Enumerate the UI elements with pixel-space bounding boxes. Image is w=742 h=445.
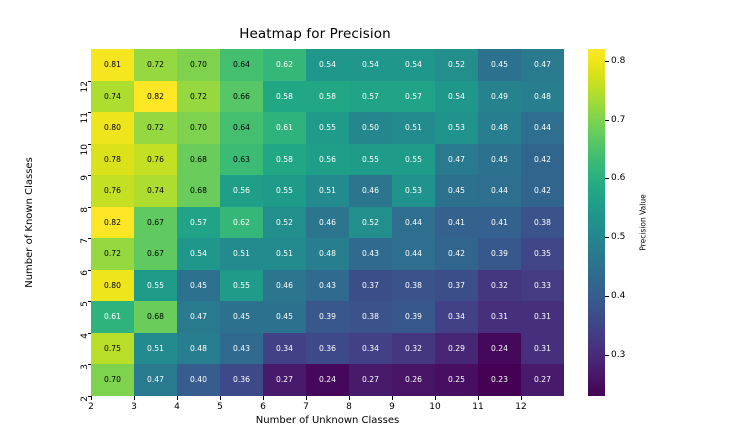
heatmap-cell: 0.48 xyxy=(306,238,349,270)
heatmap-cell: 0.55 xyxy=(306,112,349,144)
heatmap-cell: 0.62 xyxy=(220,207,263,239)
heatmap-cell-value: 0.51 xyxy=(405,124,422,132)
heatmap-cell-value: 0.55 xyxy=(319,124,336,132)
heatmap-cell-value: 0.58 xyxy=(276,93,293,101)
heatmap-cell: 0.56 xyxy=(306,144,349,176)
heatmap-cell: 0.48 xyxy=(521,81,564,113)
heatmap-cell: 0.31 xyxy=(478,301,521,333)
heatmap-cell: 0.70 xyxy=(91,364,134,396)
heatmap-cell-value: 0.57 xyxy=(362,93,379,101)
heatmap-cell: 0.47 xyxy=(521,49,564,81)
heatmap-cell-value: 0.44 xyxy=(491,187,508,195)
heatmap-cell: 0.48 xyxy=(478,112,521,144)
x-axis-title: Number of Unknown Classes xyxy=(91,415,564,426)
heatmap-cell: 0.32 xyxy=(392,333,435,365)
heatmap-cell-value: 0.76 xyxy=(104,187,121,195)
heatmap-cell-value: 0.67 xyxy=(147,219,164,227)
y-tick-label: 9 xyxy=(80,175,90,181)
heatmap-cell-value: 0.82 xyxy=(147,93,164,101)
x-tick-mark xyxy=(478,396,479,400)
x-tick-mark xyxy=(349,396,350,400)
heatmap-cell-value: 0.48 xyxy=(190,345,207,353)
heatmap-cell: 0.81 xyxy=(91,49,134,81)
heatmap-cell-value: 0.64 xyxy=(233,61,250,69)
heatmap-cell: 0.72 xyxy=(177,81,220,113)
heatmap-cell-value: 0.70 xyxy=(104,376,121,384)
heatmap-cell-value: 0.67 xyxy=(147,250,164,258)
heatmap-cell-value: 0.31 xyxy=(534,313,551,321)
heatmap-cell-value: 0.62 xyxy=(233,219,250,227)
heatmap-cell-value: 0.27 xyxy=(362,376,379,384)
heatmap-cell: 0.55 xyxy=(220,270,263,302)
colorbar: 0.80.70.60.50.40.3 xyxy=(588,49,605,396)
heatmap-cell: 0.46 xyxy=(263,270,306,302)
y-tick-label: 11 xyxy=(80,112,90,123)
heatmap-cell: 0.47 xyxy=(134,364,177,396)
colorbar-tick-label: 0.4 xyxy=(611,291,625,301)
heatmap-cell-value: 0.68 xyxy=(190,187,207,195)
colorbar-tick-label: 0.7 xyxy=(611,115,625,125)
heatmap-cell: 0.38 xyxy=(521,207,564,239)
heatmap-cell-value: 0.55 xyxy=(276,187,293,195)
y-tick-label: 7 xyxy=(80,238,90,244)
heatmap-cell-value: 0.44 xyxy=(405,219,422,227)
heatmap-cell-value: 0.23 xyxy=(491,376,508,384)
heatmap-cell: 0.29 xyxy=(435,333,478,365)
heatmap-cell: 0.31 xyxy=(521,333,564,365)
colorbar-tick-label: 0.5 xyxy=(611,232,625,242)
heatmap-cell-value: 0.57 xyxy=(405,93,422,101)
heatmap-cell-value: 0.72 xyxy=(147,124,164,132)
heatmap-cell: 0.45 xyxy=(478,144,521,176)
x-tick-label: 11 xyxy=(472,402,483,412)
heatmap-cell: 0.34 xyxy=(435,301,478,333)
x-tick-label: 8 xyxy=(346,402,352,412)
x-tick-label: 9 xyxy=(389,402,395,412)
heatmap-cell: 0.54 xyxy=(435,81,478,113)
heatmap-cell: 0.45 xyxy=(177,270,220,302)
heatmap-cell: 0.72 xyxy=(134,49,177,81)
x-tick-mark xyxy=(263,396,264,400)
heatmap-cell: 0.51 xyxy=(263,238,306,270)
heatmap-cell-value: 0.54 xyxy=(319,61,336,69)
heatmap-cell-value: 0.58 xyxy=(319,93,336,101)
heatmap-cell-value: 0.63 xyxy=(233,156,250,164)
heatmap-cell: 0.51 xyxy=(220,238,263,270)
heatmap-cell-value: 0.41 xyxy=(491,219,508,227)
heatmap-cell-value: 0.33 xyxy=(534,282,551,290)
y-tick-label: 10 xyxy=(80,144,90,155)
heatmap-cell-value: 0.45 xyxy=(491,61,508,69)
heatmap-cell-value: 0.51 xyxy=(233,250,250,258)
heatmap-cell-value: 0.57 xyxy=(190,219,207,227)
heatmap-cell-value: 0.39 xyxy=(319,313,336,321)
heatmap-cell: 0.55 xyxy=(349,144,392,176)
heatmap-cell-value: 0.31 xyxy=(534,345,551,353)
heatmap-cell-value: 0.24 xyxy=(319,376,336,384)
heatmap-cell: 0.36 xyxy=(220,364,263,396)
heatmap-cell: 0.42 xyxy=(435,238,478,270)
heatmap-cell-value: 0.55 xyxy=(147,282,164,290)
heatmap-cell: 0.76 xyxy=(91,175,134,207)
heatmap-cell: 0.75 xyxy=(91,333,134,365)
heatmap-cell: 0.51 xyxy=(392,112,435,144)
heatmap-cell-value: 0.74 xyxy=(147,187,164,195)
heatmap-cell-value: 0.54 xyxy=(362,61,379,69)
heatmap-cell-value: 0.53 xyxy=(448,124,465,132)
heatmap-cell-value: 0.75 xyxy=(104,345,121,353)
heatmap-cell: 0.48 xyxy=(177,333,220,365)
heatmap-cell: 0.43 xyxy=(306,270,349,302)
y-tick-label: 6 xyxy=(80,270,90,276)
chart-title: Heatmap for Precision xyxy=(0,26,630,42)
heatmap-cell-value: 0.46 xyxy=(362,187,379,195)
heatmap-cell: 0.45 xyxy=(220,301,263,333)
y-tick-label: 3 xyxy=(80,364,90,370)
heatmap-cell: 0.62 xyxy=(263,49,306,81)
figure-canvas: Heatmap for Precision Number of Known Cl… xyxy=(0,0,742,445)
heatmap-cell: 0.23 xyxy=(478,364,521,396)
heatmap-cell: 0.33 xyxy=(521,270,564,302)
heatmap-cell-value: 0.32 xyxy=(405,345,422,353)
heatmap-cell-value: 0.44 xyxy=(534,124,551,132)
heatmap-cell-value: 0.37 xyxy=(448,282,465,290)
heatmap-cell-value: 0.76 xyxy=(147,156,164,164)
heatmap-cell: 0.52 xyxy=(263,207,306,239)
heatmap-cell-value: 0.37 xyxy=(362,282,379,290)
heatmap-cell: 0.80 xyxy=(91,112,134,144)
heatmap-cell-value: 0.40 xyxy=(190,376,207,384)
heatmap-cell-value: 0.52 xyxy=(362,219,379,227)
heatmap-cell: 0.35 xyxy=(521,238,564,270)
x-tick-label: 2 xyxy=(88,402,94,412)
heatmap-cell: 0.64 xyxy=(220,49,263,81)
heatmap-cell: 0.27 xyxy=(521,364,564,396)
heatmap-cell-value: 0.27 xyxy=(534,376,551,384)
heatmap-cell-value: 0.70 xyxy=(190,61,207,69)
heatmap-cell: 0.67 xyxy=(134,207,177,239)
colorbar-tick-label: 0.3 xyxy=(611,350,625,360)
x-tick-label: 10 xyxy=(429,402,440,412)
heatmap-cell-value: 0.80 xyxy=(104,124,121,132)
heatmap-cell: 0.80 xyxy=(91,270,134,302)
heatmap-cell: 0.66 xyxy=(220,81,263,113)
heatmap-cell-value: 0.54 xyxy=(448,93,465,101)
heatmap-plot-area: 0.810.720.700.640.620.540.540.540.520.45… xyxy=(91,49,564,396)
heatmap-cell: 0.46 xyxy=(349,175,392,207)
heatmap-cell: 0.40 xyxy=(177,364,220,396)
heatmap-cell-value: 0.36 xyxy=(319,345,336,353)
heatmap-cell: 0.47 xyxy=(177,301,220,333)
colorbar-title: Precision Value xyxy=(636,49,650,396)
y-axis-title: Number of Known Classes xyxy=(22,49,36,396)
x-tick-label: 5 xyxy=(217,402,223,412)
colorbar-tick-mark xyxy=(605,120,609,121)
heatmap-cell: 0.54 xyxy=(349,49,392,81)
y-tick-label: 4 xyxy=(80,333,90,339)
heatmap-cell-value: 0.53 xyxy=(405,187,422,195)
heatmap-cell: 0.43 xyxy=(349,238,392,270)
heatmap-cell: 0.42 xyxy=(521,175,564,207)
heatmap-cell: 0.61 xyxy=(91,301,134,333)
heatmap-cell-value: 0.81 xyxy=(104,61,121,69)
heatmap-cell-value: 0.38 xyxy=(534,219,551,227)
heatmap-cell-value: 0.48 xyxy=(319,250,336,258)
x-tick-label: 3 xyxy=(131,402,137,412)
heatmap-cell-value: 0.46 xyxy=(276,282,293,290)
heatmap-cell: 0.57 xyxy=(392,81,435,113)
heatmap-cell-value: 0.82 xyxy=(104,219,121,227)
heatmap-cell-value: 0.27 xyxy=(276,376,293,384)
heatmap-cell-value: 0.26 xyxy=(405,376,422,384)
heatmap-cell: 0.41 xyxy=(435,207,478,239)
heatmap-cell: 0.24 xyxy=(306,364,349,396)
heatmap-cell-value: 0.43 xyxy=(233,345,250,353)
heatmap-cell-value: 0.34 xyxy=(276,345,293,353)
x-tick-label: 4 xyxy=(174,402,180,412)
heatmap-cell: 0.26 xyxy=(392,364,435,396)
heatmap-cell-value: 0.51 xyxy=(319,187,336,195)
heatmap-cell-value: 0.47 xyxy=(190,313,207,321)
heatmap-cell-value: 0.61 xyxy=(276,124,293,132)
colorbar-tick-mark xyxy=(605,296,609,297)
heatmap-cell: 0.38 xyxy=(392,270,435,302)
heatmap-cell-value: 0.34 xyxy=(448,313,465,321)
heatmap-cell: 0.36 xyxy=(306,333,349,365)
heatmap-cell: 0.46 xyxy=(306,207,349,239)
heatmap-cell: 0.57 xyxy=(349,81,392,113)
heatmap-cell: 0.70 xyxy=(177,112,220,144)
y-axis-title-text: Number of Known Classes xyxy=(24,157,35,288)
heatmap-cell: 0.44 xyxy=(392,207,435,239)
heatmap-cell: 0.52 xyxy=(349,207,392,239)
colorbar-tick-mark xyxy=(605,178,609,179)
heatmap-cell: 0.53 xyxy=(392,175,435,207)
heatmap-cell-value: 0.46 xyxy=(319,219,336,227)
heatmap-cell: 0.72 xyxy=(134,112,177,144)
heatmap-cell: 0.39 xyxy=(306,301,349,333)
heatmap-cell-value: 0.52 xyxy=(276,219,293,227)
heatmap-cell: 0.74 xyxy=(91,81,134,113)
y-tick-label: 5 xyxy=(80,301,90,307)
heatmap-cell-value: 0.43 xyxy=(362,250,379,258)
heatmap-cell-value: 0.55 xyxy=(362,156,379,164)
heatmap-cell: 0.64 xyxy=(220,112,263,144)
colorbar-gradient xyxy=(588,49,605,396)
y-tick-label: 8 xyxy=(80,207,90,213)
heatmap-cell: 0.82 xyxy=(91,207,134,239)
colorbar-tick-mark xyxy=(605,355,609,356)
heatmap-cell: 0.50 xyxy=(349,112,392,144)
heatmap-cell: 0.45 xyxy=(478,49,521,81)
heatmap-cell-value: 0.25 xyxy=(448,376,465,384)
x-tick-mark xyxy=(134,396,135,400)
heatmap-cell: 0.39 xyxy=(478,238,521,270)
heatmap-cell: 0.52 xyxy=(435,49,478,81)
x-tick-label: 7 xyxy=(303,402,309,412)
heatmap-cell: 0.37 xyxy=(349,270,392,302)
heatmap-cell: 0.27 xyxy=(263,364,306,396)
heatmap-cell: 0.56 xyxy=(220,175,263,207)
heatmap-cell-value: 0.45 xyxy=(448,187,465,195)
x-tick-mark xyxy=(177,396,178,400)
heatmap-cell-value: 0.47 xyxy=(534,61,551,69)
heatmap-cell: 0.42 xyxy=(521,144,564,176)
y-tick-label: 12 xyxy=(80,81,90,92)
heatmap-cell-value: 0.42 xyxy=(448,250,465,258)
heatmap-cell: 0.70 xyxy=(177,49,220,81)
heatmap-cell: 0.54 xyxy=(306,49,349,81)
heatmap-cell: 0.25 xyxy=(435,364,478,396)
heatmap-cell-value: 0.52 xyxy=(448,61,465,69)
heatmap-cell-value: 0.47 xyxy=(147,376,164,384)
heatmap-cell-value: 0.72 xyxy=(147,61,164,69)
heatmap-cell: 0.51 xyxy=(306,175,349,207)
heatmap-cell: 0.53 xyxy=(435,112,478,144)
heatmap-cell-value: 0.72 xyxy=(104,250,121,258)
x-tick-mark xyxy=(91,396,92,400)
heatmap-cell-value: 0.39 xyxy=(491,250,508,258)
heatmap-cell: 0.55 xyxy=(134,270,177,302)
heatmap-cell: 0.47 xyxy=(435,144,478,176)
heatmap-cell-value: 0.49 xyxy=(491,93,508,101)
heatmap-cell-value: 0.78 xyxy=(104,156,121,164)
heatmap-cell: 0.58 xyxy=(263,144,306,176)
heatmap-cell-value: 0.32 xyxy=(491,282,508,290)
heatmap-cell-value: 0.62 xyxy=(276,61,293,69)
heatmap-cell-value: 0.50 xyxy=(362,124,379,132)
heatmap-cell: 0.24 xyxy=(478,333,521,365)
heatmap-cell: 0.31 xyxy=(521,301,564,333)
heatmap-cell: 0.37 xyxy=(435,270,478,302)
heatmap-cell-value: 0.45 xyxy=(233,313,250,321)
x-tick-mark xyxy=(220,396,221,400)
heatmap-cell: 0.32 xyxy=(478,270,521,302)
heatmap-cell-value: 0.51 xyxy=(147,345,164,353)
heatmap-cell-value: 0.42 xyxy=(534,156,551,164)
heatmap-cell-value: 0.29 xyxy=(448,345,465,353)
heatmap-cell-value: 0.80 xyxy=(104,282,121,290)
heatmap-cell-value: 0.24 xyxy=(491,345,508,353)
heatmap-cell: 0.27 xyxy=(349,364,392,396)
heatmap-cell-value: 0.55 xyxy=(233,282,250,290)
heatmap-cell-value: 0.68 xyxy=(190,156,207,164)
heatmap-cell-value: 0.68 xyxy=(147,313,164,321)
heatmap-cell-value: 0.41 xyxy=(448,219,465,227)
heatmap-cell-value: 0.34 xyxy=(362,345,379,353)
heatmap-cell-value: 0.42 xyxy=(534,187,551,195)
heatmap-cell-value: 0.55 xyxy=(405,156,422,164)
heatmap-cell-value: 0.35 xyxy=(534,250,551,258)
heatmap-cell: 0.44 xyxy=(521,112,564,144)
heatmap-cell: 0.63 xyxy=(220,144,263,176)
heatmap-grid: 0.810.720.700.640.620.540.540.540.520.45… xyxy=(91,49,564,396)
heatmap-cell: 0.39 xyxy=(392,301,435,333)
heatmap-cell: 0.68 xyxy=(134,301,177,333)
colorbar-tick-label: 0.8 xyxy=(611,56,625,66)
heatmap-cell: 0.76 xyxy=(134,144,177,176)
heatmap-cell: 0.61 xyxy=(263,112,306,144)
heatmap-cell: 0.38 xyxy=(349,301,392,333)
colorbar-title-text: Precision Value xyxy=(639,194,648,250)
x-tick-label: 6 xyxy=(260,402,266,412)
x-tick-mark xyxy=(392,396,393,400)
x-tick-mark xyxy=(435,396,436,400)
heatmap-cell: 0.58 xyxy=(263,81,306,113)
heatmap-cell: 0.78 xyxy=(91,144,134,176)
heatmap-cell-value: 0.58 xyxy=(276,156,293,164)
heatmap-cell: 0.34 xyxy=(349,333,392,365)
heatmap-cell: 0.67 xyxy=(134,238,177,270)
heatmap-cell: 0.44 xyxy=(392,238,435,270)
heatmap-cell: 0.58 xyxy=(306,81,349,113)
x-tick-mark xyxy=(521,396,522,400)
heatmap-cell-value: 0.45 xyxy=(190,282,207,290)
heatmap-cell: 0.44 xyxy=(478,175,521,207)
heatmap-cell: 0.54 xyxy=(177,238,220,270)
heatmap-cell: 0.51 xyxy=(134,333,177,365)
heatmap-cell-value: 0.56 xyxy=(319,156,336,164)
heatmap-cell: 0.82 xyxy=(134,81,177,113)
heatmap-cell: 0.54 xyxy=(392,49,435,81)
heatmap-cell-value: 0.36 xyxy=(233,376,250,384)
heatmap-cell-value: 0.70 xyxy=(190,124,207,132)
heatmap-cell-value: 0.38 xyxy=(362,313,379,321)
heatmap-cell-value: 0.66 xyxy=(233,93,250,101)
heatmap-cell: 0.49 xyxy=(478,81,521,113)
heatmap-cell-value: 0.43 xyxy=(319,282,336,290)
heatmap-cell-value: 0.54 xyxy=(405,61,422,69)
heatmap-cell-value: 0.38 xyxy=(405,282,422,290)
heatmap-cell: 0.43 xyxy=(220,333,263,365)
heatmap-cell-value: 0.31 xyxy=(491,313,508,321)
heatmap-cell: 0.55 xyxy=(263,175,306,207)
heatmap-cell: 0.34 xyxy=(263,333,306,365)
heatmap-cell: 0.68 xyxy=(177,144,220,176)
heatmap-cell-value: 0.39 xyxy=(405,313,422,321)
heatmap-cell: 0.72 xyxy=(91,238,134,270)
heatmap-cell: 0.74 xyxy=(134,175,177,207)
y-tick-label: 2 xyxy=(80,396,90,402)
heatmap-cell: 0.45 xyxy=(263,301,306,333)
heatmap-cell-value: 0.45 xyxy=(491,156,508,164)
x-tick-label: 12 xyxy=(515,402,526,412)
x-tick-mark xyxy=(306,396,307,400)
heatmap-cell-value: 0.64 xyxy=(233,124,250,132)
heatmap-cell: 0.45 xyxy=(435,175,478,207)
heatmap-cell-value: 0.48 xyxy=(491,124,508,132)
colorbar-tick-mark xyxy=(605,61,609,62)
heatmap-cell-value: 0.51 xyxy=(276,250,293,258)
heatmap-cell: 0.41 xyxy=(478,207,521,239)
heatmap-cell-value: 0.47 xyxy=(448,156,465,164)
heatmap-cell-value: 0.54 xyxy=(190,250,207,258)
heatmap-cell-value: 0.61 xyxy=(104,313,121,321)
heatmap-cell-value: 0.45 xyxy=(276,313,293,321)
colorbar-tick-label: 0.6 xyxy=(611,173,625,183)
heatmap-cell-value: 0.72 xyxy=(190,93,207,101)
heatmap-cell: 0.68 xyxy=(177,175,220,207)
heatmap-cell-value: 0.44 xyxy=(405,250,422,258)
heatmap-cell: 0.55 xyxy=(392,144,435,176)
heatmap-cell-value: 0.56 xyxy=(233,187,250,195)
colorbar-tick-mark xyxy=(605,237,609,238)
heatmap-cell-value: 0.74 xyxy=(104,93,121,101)
heatmap-cell-value: 0.48 xyxy=(534,93,551,101)
heatmap-cell: 0.57 xyxy=(177,207,220,239)
